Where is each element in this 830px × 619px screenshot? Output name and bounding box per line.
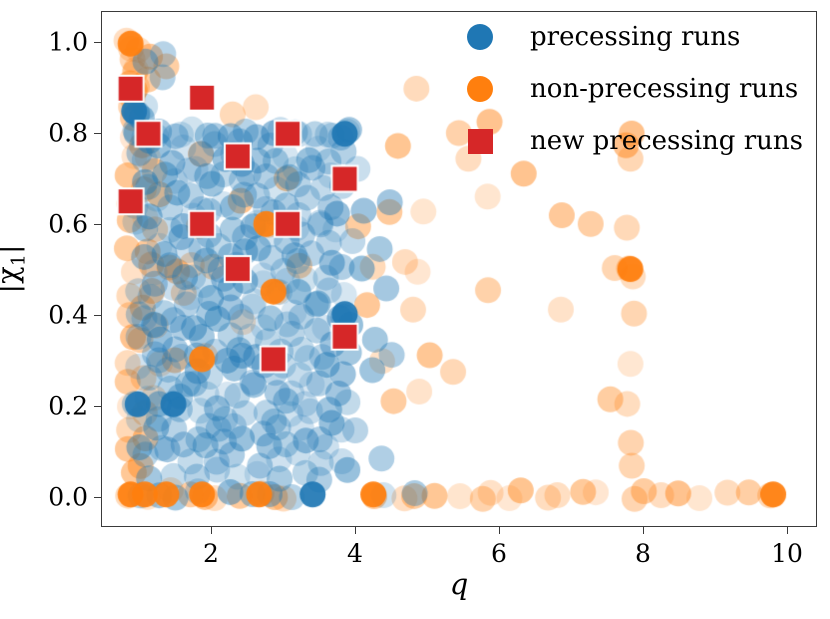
ytick-label-0.0: 0.0 <box>10 483 88 512</box>
legend-circle-marker-precessing <box>467 24 493 50</box>
ytick-label-0.4: 0.4 <box>10 301 88 330</box>
ytick-mark-1.0 <box>94 42 101 43</box>
legend-marker-cell <box>430 76 530 102</box>
xtick-label-10: 10 <box>771 539 803 568</box>
xtick-mark-2 <box>211 527 212 534</box>
legend-label-new-precessing-runs: new precessing runs <box>530 126 803 156</box>
ytick-label-0.6: 0.6 <box>10 210 88 239</box>
y-axis-label-sub: 1 <box>7 254 29 266</box>
ytick-label-0.8: 0.8 <box>10 119 88 148</box>
xtick-label-4: 4 <box>347 539 363 568</box>
x-axis-label: q <box>450 567 469 601</box>
xtick-label-8: 8 <box>635 539 651 568</box>
ytick-mark-0.6 <box>94 224 101 225</box>
ytick-label-1.0: 1.0 <box>10 28 88 57</box>
legend-label-non-precessing-runs: non-precessing runs <box>530 74 798 104</box>
ytick-mark-0.0 <box>94 497 101 498</box>
ytick-mark-0.2 <box>94 406 101 407</box>
ytick-label-0.2: 0.2 <box>10 392 88 421</box>
legend-entry-new-precessing-runs: new precessing runs <box>430 126 803 156</box>
y-axis-label-main: |χ <box>0 266 25 293</box>
xtick-mark-10 <box>787 527 788 534</box>
legend-marker-cell <box>430 129 530 154</box>
legend-entry-non-precessing-runs: non-precessing runs <box>430 74 803 104</box>
xtick-label-2: 2 <box>203 539 219 568</box>
xtick-mark-6 <box>499 527 500 534</box>
legend-circle-marker-non-precessing <box>467 76 493 102</box>
legend: precessing runs non-precessing runs new … <box>430 22 803 156</box>
xtick-label-6: 6 <box>491 539 507 568</box>
xtick-mark-8 <box>643 527 644 534</box>
legend-square-marker-new-precessing <box>468 129 493 154</box>
ytick-mark-0.4 <box>94 315 101 316</box>
legend-entry-precessing-runs: precessing runs <box>430 22 803 52</box>
xtick-mark-4 <box>355 527 356 534</box>
legend-label-precessing-runs: precessing runs <box>530 22 740 52</box>
y-axis-label-bar: | <box>0 244 25 254</box>
ytick-mark-0.8 <box>94 133 101 134</box>
legend-marker-cell <box>430 24 530 50</box>
scatter-plot-figure: 1.0 0.8 0.6 0.4 0.2 0.0 2 4 6 8 10 q |χ1… <box>0 0 830 619</box>
y-axis-label: |χ1| <box>0 244 29 293</box>
